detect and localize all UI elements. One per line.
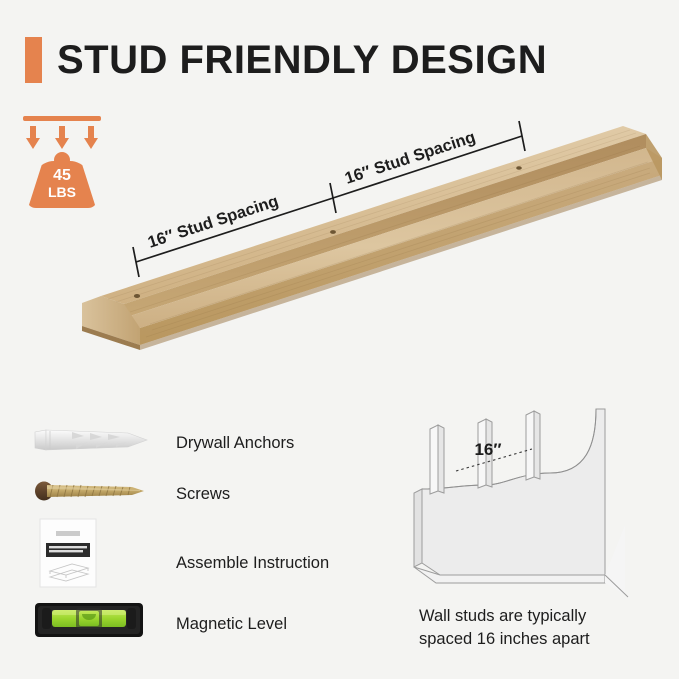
- header: STUD FRIENDLY DESIGN: [0, 0, 679, 100]
- shelf-hero-illustration: 16″ Stud Spacing 16″ Stud Spacing: [0, 90, 679, 390]
- mounting-hole: [134, 294, 140, 298]
- wall-stud-diagram: 16″ Wall studs are typically spaced 16 i…: [400, 405, 679, 679]
- hardware-label: Assemble Instruction: [176, 554, 329, 573]
- stud-caption: Wall studs are typically spaced 16 inche…: [419, 605, 669, 651]
- page-title: STUD FRIENDLY DESIGN: [57, 36, 547, 84]
- stud-caption-line-1: Wall studs are typically: [419, 605, 669, 628]
- accent-bar: [25, 37, 42, 83]
- stud-dimension-label: 16″: [474, 440, 501, 459]
- drywall-anchor-icon: [32, 423, 154, 464]
- stud-diagram-svg: 16″: [400, 405, 679, 605]
- shelf-svg: 16″ Stud Spacing 16″ Stud Spacing: [0, 90, 679, 390]
- mounting-hole: [516, 166, 522, 170]
- list-item: Assemble Instruction: [0, 517, 400, 587]
- instruction-booklet-icon: [32, 517, 154, 594]
- list-item: Drywall Anchors: [0, 423, 400, 467]
- mounting-hole: [330, 230, 336, 234]
- hardware-list: Drywall Anchors: [0, 405, 400, 665]
- hardware-label: Screws: [176, 485, 230, 504]
- list-item: Screws: [0, 475, 400, 519]
- hardware-label: Magnetic Level: [176, 615, 287, 634]
- screw-icon: [32, 475, 154, 512]
- hardware-label: Drywall Anchors: [176, 434, 294, 453]
- list-item: Magnetic Level: [0, 597, 400, 647]
- magnetic-level-icon: [32, 597, 154, 648]
- stud-caption-line-2: spaced 16 inches apart: [419, 628, 669, 651]
